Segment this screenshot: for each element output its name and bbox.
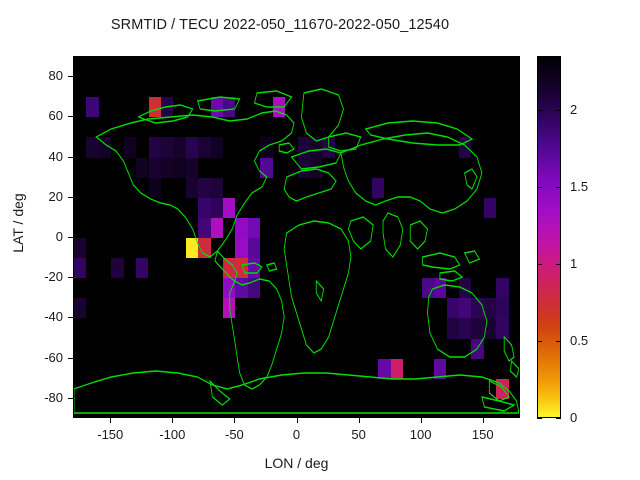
x-axis-label: LON / deg bbox=[73, 455, 520, 471]
y-tick bbox=[68, 116, 73, 117]
coastlines bbox=[74, 57, 519, 417]
y-tick bbox=[68, 157, 73, 158]
y-tick bbox=[68, 76, 73, 77]
colorbar-tick bbox=[537, 341, 542, 342]
figure: SRMTID / TECU 2022-050_11670-2022-050_12… bbox=[0, 0, 640, 480]
y-tick-label: 0 bbox=[13, 229, 63, 244]
colorbar-tick bbox=[556, 187, 561, 188]
x-tick bbox=[297, 418, 298, 423]
y-tick bbox=[68, 237, 73, 238]
y-tick bbox=[68, 358, 73, 359]
x-tick-label: -100 bbox=[142, 427, 202, 442]
colorbar-tick-label: 0 bbox=[570, 410, 610, 425]
colorbar-tick-label: 2 bbox=[570, 102, 610, 117]
colorbar-tick bbox=[537, 264, 542, 265]
y-tick-label: 60 bbox=[13, 108, 63, 123]
y-tick-label: -40 bbox=[13, 309, 63, 324]
y-tick bbox=[68, 317, 73, 318]
y-tick bbox=[68, 398, 73, 399]
colorbar-tick bbox=[537, 418, 542, 419]
colorbar-tick bbox=[556, 264, 561, 265]
y-tick-label: 80 bbox=[13, 68, 63, 83]
y-tick-label: 20 bbox=[13, 189, 63, 204]
colorbar-tick bbox=[556, 418, 561, 419]
chart-title: SRMTID / TECU 2022-050_11670-2022-050_12… bbox=[0, 17, 560, 33]
x-tick bbox=[359, 418, 360, 423]
colorbar-gradient bbox=[538, 57, 560, 417]
colorbar-tick-label: 1.5 bbox=[570, 179, 610, 194]
x-tick-label: 0 bbox=[267, 427, 327, 442]
colorbar-tick bbox=[556, 341, 561, 342]
x-tick-label: 150 bbox=[453, 427, 513, 442]
y-tick-label: -80 bbox=[13, 390, 63, 405]
x-tick-label: -50 bbox=[204, 427, 264, 442]
x-tick bbox=[483, 418, 484, 423]
x-tick bbox=[172, 418, 173, 423]
colorbar-tick bbox=[537, 110, 542, 111]
x-tick-label: -150 bbox=[80, 427, 140, 442]
x-tick-label: 100 bbox=[391, 427, 451, 442]
y-tick bbox=[68, 197, 73, 198]
x-tick bbox=[234, 418, 235, 423]
x-tick-label: 50 bbox=[329, 427, 389, 442]
colorbar-tick bbox=[556, 110, 561, 111]
y-tick-label: -20 bbox=[13, 269, 63, 284]
y-tick-label: -60 bbox=[13, 350, 63, 365]
x-tick bbox=[421, 418, 422, 423]
y-tick-label: 40 bbox=[13, 149, 63, 164]
colorbar-tick bbox=[537, 187, 542, 188]
map-plot-area bbox=[73, 56, 520, 418]
colorbar-tick-label: 1 bbox=[570, 256, 610, 271]
colorbar-tick-label: 0.5 bbox=[570, 333, 610, 348]
x-tick bbox=[110, 418, 111, 423]
y-tick bbox=[68, 277, 73, 278]
